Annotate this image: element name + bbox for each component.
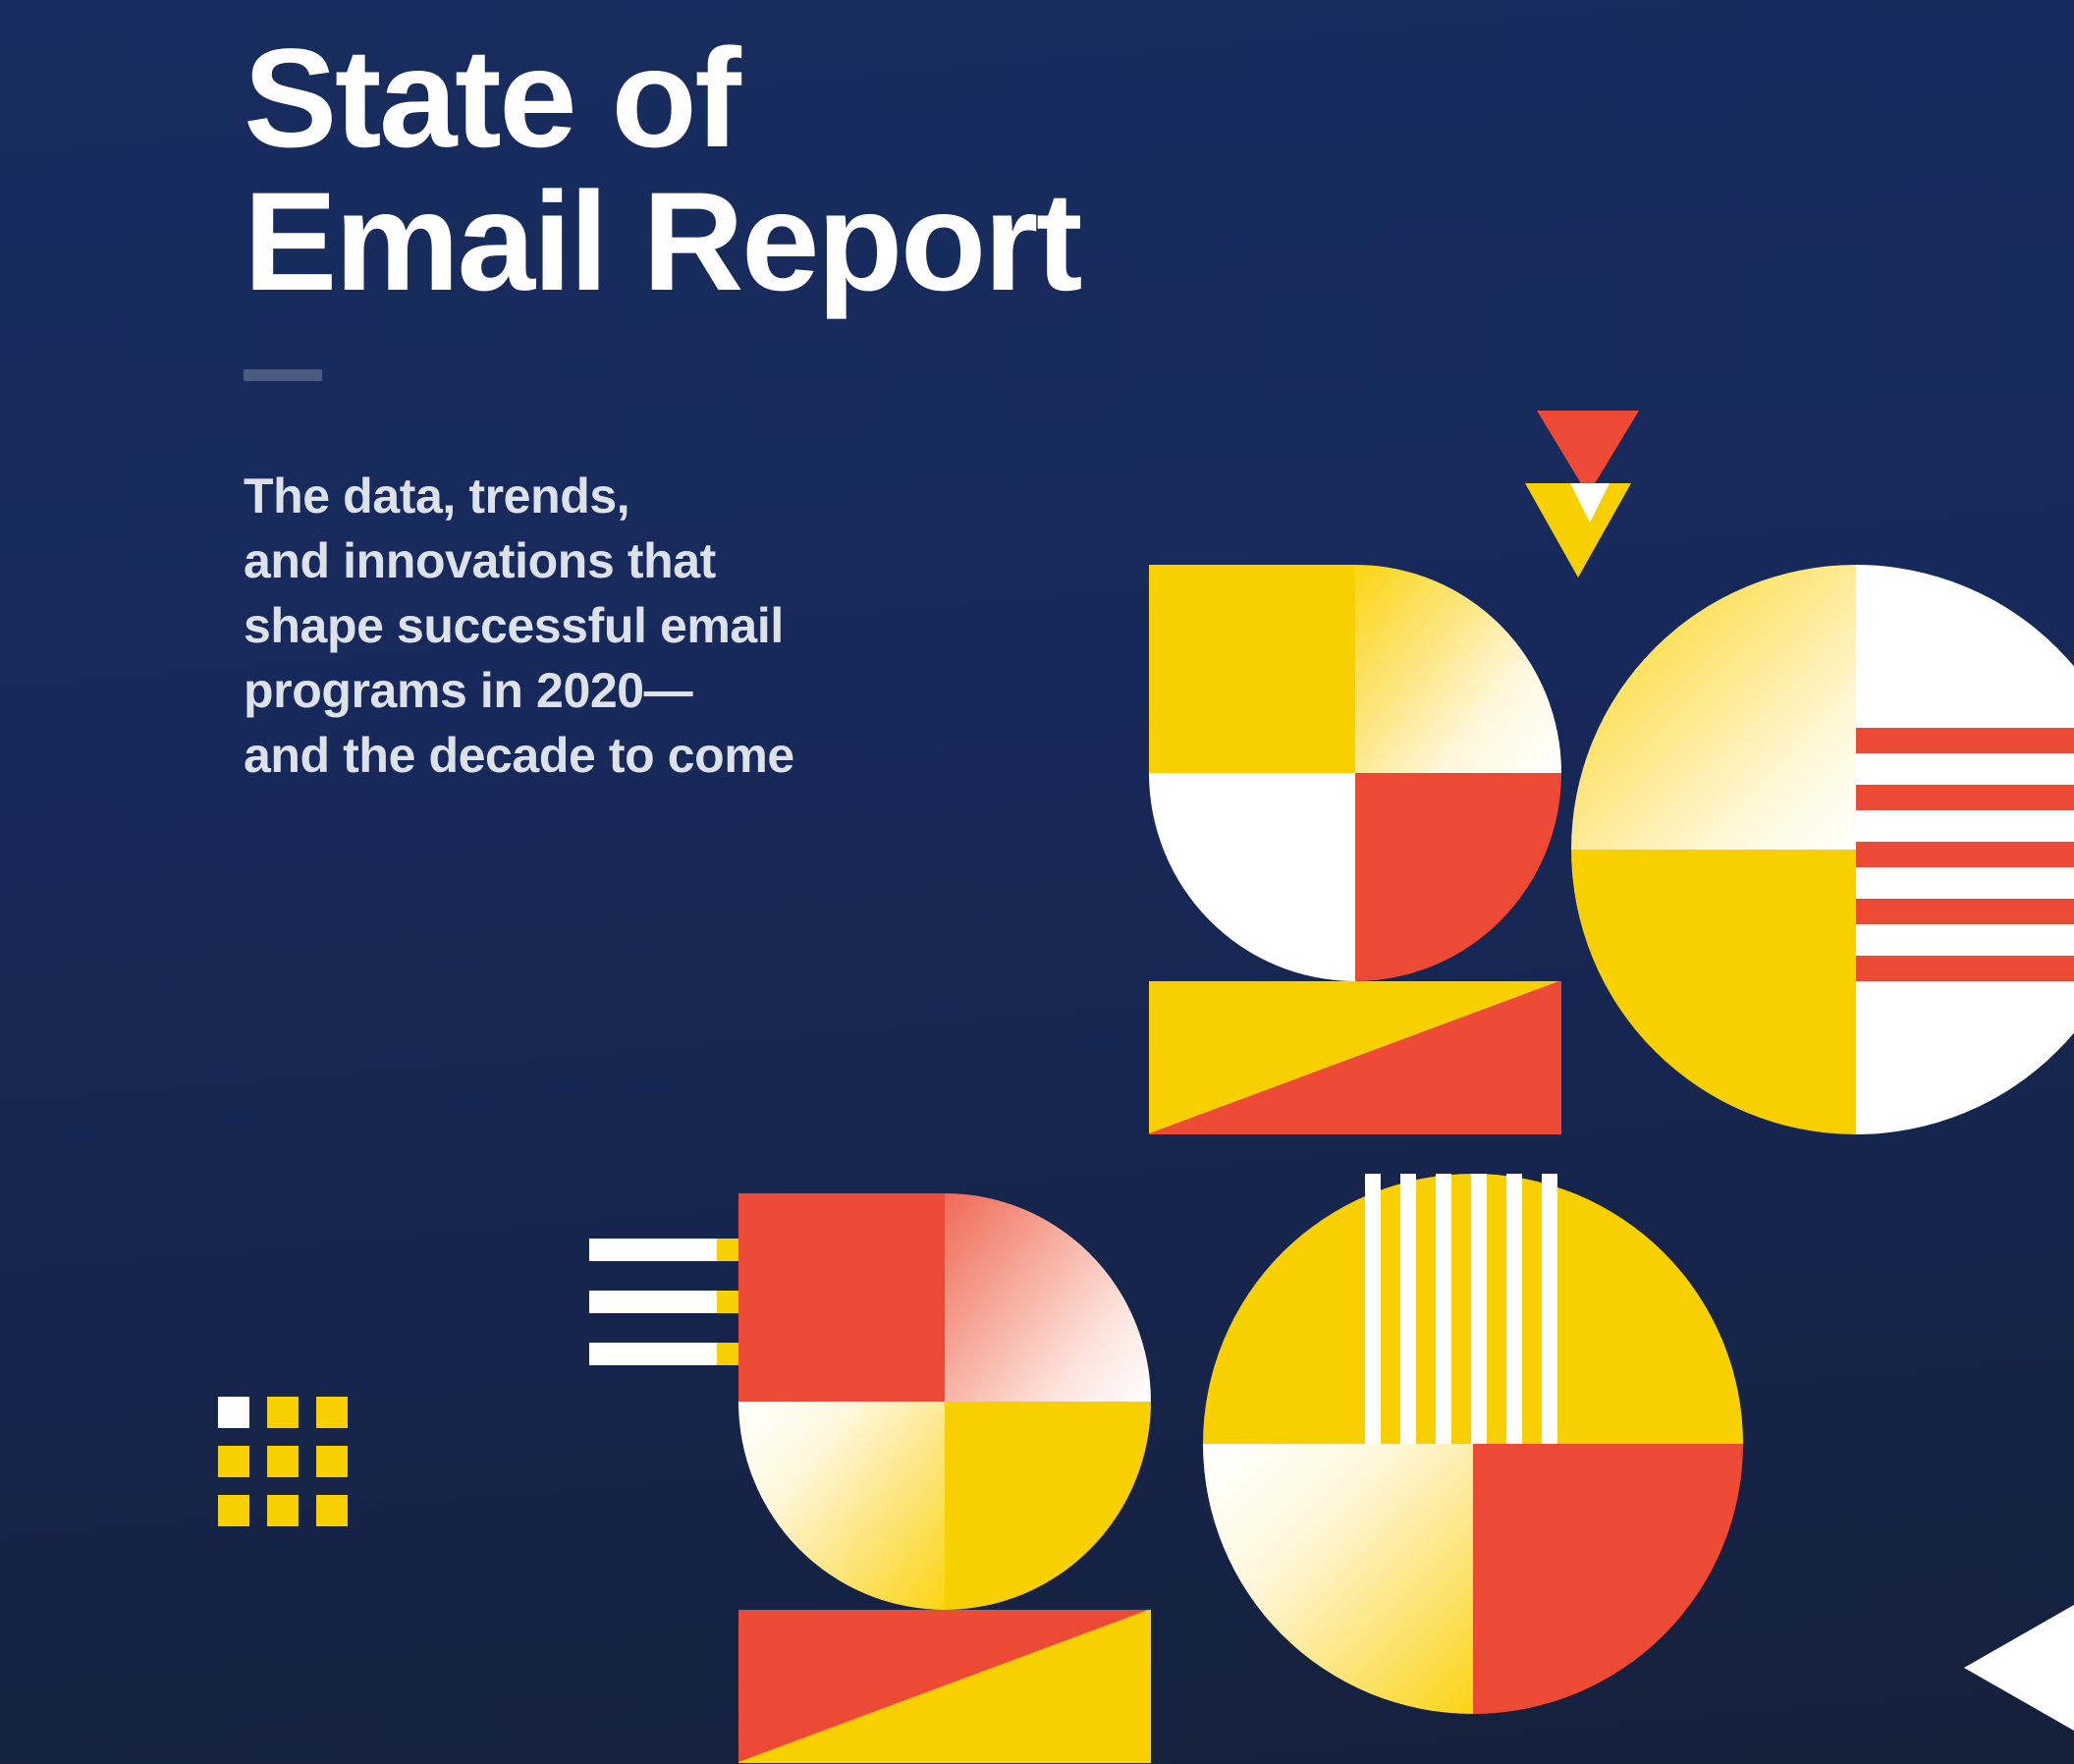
white-left-triangle-icon	[1964, 1605, 2074, 1731]
two-bottom-tab-white	[589, 1239, 717, 1261]
two-bottom-arc-bl	[738, 1402, 945, 1610]
dot-grid-cell	[218, 1446, 249, 1477]
title-line-2: Email Report	[244, 171, 1226, 314]
zero-bottom-vertical-stripes	[1365, 1174, 1609, 1444]
dot-grid-cell	[218, 1495, 249, 1526]
zero-top-quad-tl	[1571, 565, 1856, 850]
subtitle-line-5: and the decade to come	[244, 723, 1226, 788]
zero-top-horizontal-stripes	[1856, 728, 2074, 1013]
dot-grid-cell	[316, 1397, 348, 1428]
zero-top-stripe	[1856, 956, 2074, 981]
zero-bottom-stripe	[1471, 1174, 1487, 1444]
two-bottom-tab-white	[589, 1291, 717, 1313]
two-bottom-square	[738, 1193, 945, 1402]
zero-bottom-quad-bl	[1203, 1444, 1473, 1714]
page-title: State of Email Report	[244, 28, 1226, 314]
dot-grid-cell	[316, 1495, 348, 1526]
two-top-foot	[1149, 981, 1561, 1134]
zero-bottom-stripe	[1400, 1174, 1416, 1444]
zero-top-stripe	[1856, 842, 2074, 867]
zero-bottom-stripe	[1436, 1174, 1451, 1444]
dot-grid-cell	[218, 1397, 249, 1428]
dot-grid-cell	[267, 1397, 299, 1428]
zero-top-stripe	[1856, 785, 2074, 810]
zero-bottom-stripe	[1506, 1174, 1522, 1444]
two-top-arc-bl	[1149, 773, 1355, 981]
two-top-square	[1149, 565, 1355, 773]
dot-grid-cell	[267, 1446, 299, 1477]
numeral-zero-bottom	[1203, 1174, 1743, 1714]
zero-bottom-stripe	[1542, 1174, 1557, 1444]
dot-grid-decoration	[218, 1397, 348, 1526]
dot-grid-cell	[267, 1495, 299, 1526]
two-bottom-tab-white	[589, 1343, 717, 1365]
dot-grid-cell	[316, 1446, 348, 1477]
two-bottom-arc-br	[945, 1402, 1151, 1610]
two-bottom-foot-diagonal	[738, 1610, 1151, 1763]
numeral-two-top	[1149, 565, 1561, 1134]
zero-top-quad-bl	[1571, 850, 1856, 1134]
report-cover: State of Email Report The data, trends, …	[0, 0, 2074, 1764]
two-top-arc-br	[1355, 773, 1561, 981]
subtitle-line-2: and innovations that	[244, 528, 1226, 593]
divider-rule	[244, 369, 322, 381]
zero-top-stripe	[1856, 899, 2074, 924]
numeral-zero-top	[1571, 565, 2074, 1134]
white-notch-triangle-icon	[1570, 483, 1610, 523]
subtitle-line-3: shape successful email	[244, 593, 1226, 658]
two-bottom-arc-tr	[945, 1193, 1151, 1402]
zero-bottom-stripe	[1365, 1174, 1381, 1444]
two-top-foot-diagonal	[1149, 981, 1561, 1134]
subtitle-line-4: programs in 2020—	[244, 658, 1226, 723]
zero-bottom-quad-br	[1473, 1444, 1743, 1714]
cover-subtitle: The data, trends, and innovations that s…	[244, 464, 1226, 788]
cover-text-block: State of Email Report The data, trends, …	[244, 28, 1226, 788]
two-top-arc-tr	[1355, 565, 1561, 773]
subtitle-line-1: The data, trends,	[244, 464, 1226, 528]
triangle-pair-decoration	[1525, 411, 1653, 587]
numeral-two-bottom	[738, 1193, 1151, 1763]
title-line-1: State of	[244, 28, 1226, 171]
zero-top-stripe	[1856, 728, 2074, 753]
two-bottom-foot	[738, 1610, 1151, 1763]
